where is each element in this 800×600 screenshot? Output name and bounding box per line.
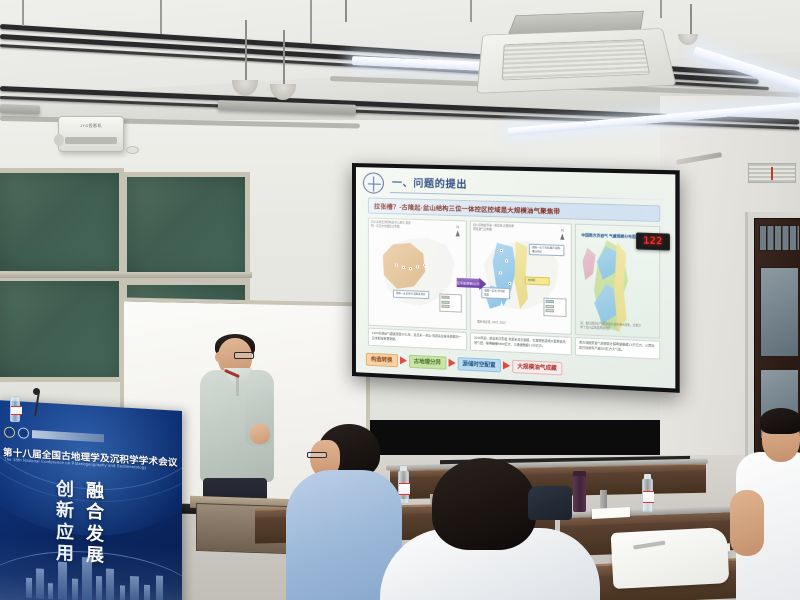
wall-projector: JYD投影机 [58, 116, 124, 152]
flow-arrow-icon [503, 361, 510, 370]
map-note: 四川盆地及邻区构造单元划分 及德阳—安岳台内裂陷分布图 [371, 221, 413, 230]
shale-zone-pink [582, 248, 597, 284]
conduit-hanger [660, 0, 662, 18]
map-marker [508, 282, 511, 285]
bottle-label [643, 491, 654, 503]
map-callout: 绵阳—长宁克拉通内 裂陷槽分布区 [529, 244, 565, 257]
water-bottle-lectern [10, 396, 20, 422]
map-marker [409, 267, 412, 270]
flow-step-2: 古地理分异 [409, 354, 446, 369]
led-display-value: 122 [643, 236, 663, 248]
map-caption: 1964年威远气藏发现至2011年，震旦系—寒山·寒武系台缘带勘探均一直未取得重… [368, 328, 467, 351]
map-legend [439, 293, 461, 312]
map-marker [500, 249, 503, 252]
map-marker [395, 264, 398, 267]
map-marker [416, 265, 419, 268]
map-marker [423, 264, 426, 267]
slide-section-title: 一、问题的提出 [392, 174, 467, 191]
flow-arrow-icon [400, 356, 407, 364]
map-marker [402, 266, 405, 269]
smoke-detector [126, 146, 139, 154]
flow-arrow-icon [448, 359, 455, 367]
bottle-label [11, 406, 22, 415]
pendant-rod [283, 30, 285, 86]
led-display: 122 [636, 232, 670, 250]
map-caption: 2011年后，震旦系灯影组·寒武系龙王庙组，交发现安岳特大型整装天然气田，探明储… [470, 332, 572, 355]
audience-white-hair [432, 458, 536, 550]
presenter-glasses [234, 352, 254, 359]
vent-indicator [771, 167, 773, 180]
map-callout: 德阳—安岳台内 裂陷发育区 [393, 290, 429, 299]
map-caption: 南方海相页岩气勘探累计探明储量超2.9万亿方，川南地区已建成年产超300亿方大气… [575, 337, 660, 360]
map-marker [499, 271, 502, 274]
ceiling-cassette-air-conditioner [476, 28, 676, 94]
light-fixture-dark [0, 104, 40, 114]
flow-step-3: 源储时空配置 [457, 357, 501, 372]
conference-banner: 第十八届全国古地理学及沉积学学术会议 The 18th National Con… [0, 400, 182, 600]
projection-screen[interactable]: 一、问题的提出 拉张槽？-古隆起·盆山结构三位一体控区控域是大规模油气聚焦带 四… [352, 163, 680, 393]
projector-brand-label: JYD投影机 [59, 123, 123, 129]
map-note: 四川盆地震旦系—寒武系 岩相古地理及油气分布图 [473, 224, 516, 233]
map-legend-caption: 注：据全国页岩气资源潜力调查评价成果，主要分布于四川盆地及周缘地区 [580, 322, 642, 333]
water-bottle-right [642, 478, 653, 512]
map-source: 据杜金虎等, 2015, 2023 [477, 320, 535, 326]
wall-air-vent [748, 163, 796, 183]
map-card-left: 四川盆地及邻区构造单元划分 及德阳—安岳台内裂陷分布图 N 德阳—安岳台内 裂陷… [368, 217, 467, 330]
audience-right-hair [760, 408, 800, 434]
slogan-char: 新 [56, 501, 74, 522]
ac-grille [502, 39, 651, 80]
compass-icon: N [559, 228, 565, 240]
bottle-label [399, 483, 410, 495]
audience-blue-glasses [307, 452, 327, 458]
projector-lens [54, 134, 64, 146]
pendant-rod [345, 0, 347, 22]
maps-row: 四川盆地及邻区构造单元划分 及德阳—安岳台内裂陷分布图 N 德阳—安岳台内 裂陷… [368, 217, 660, 338]
chalk-rail [0, 272, 252, 278]
ac-panel [476, 28, 676, 94]
door-glass-pane [760, 267, 799, 357]
presentation-slide: 一、问题的提出 拉张槽？-古隆起·盆山结构三位一体控区控域是大规模油气聚焦带 四… [356, 167, 675, 388]
door-transom-grid [759, 225, 800, 251]
tote-bag-print [633, 541, 665, 550]
projector-vent [65, 137, 117, 144]
thermos-flask [573, 476, 586, 512]
map-legend [543, 298, 566, 317]
slogan-char: 合 [86, 503, 104, 524]
transition-arrow-label: 近年勘探新认识 [457, 278, 480, 288]
dark-bag [528, 486, 572, 520]
compass-icon: N [455, 225, 461, 236]
presenter-ear [215, 352, 222, 362]
presenter-hand [250, 424, 270, 444]
chalkboard-panel [122, 172, 250, 280]
pendant-rod [690, 4, 692, 38]
slogan-char: 创 [56, 480, 74, 501]
map-marker [505, 259, 508, 262]
arrow-head-icon [480, 277, 487, 289]
conference-room-photo: JYD投影机 一、问题的提出 拉张槽？-古隆起·盆山结构三位一体控区控域是大规模… [0, 0, 800, 600]
conference-seal-left-icon [4, 426, 15, 438]
conduit-hanger [22, 0, 24, 26]
audience-right-arm [730, 490, 764, 556]
transition-arrow: 近年勘探新认识 [457, 277, 484, 289]
slogan-char: 融 [86, 481, 104, 502]
conference-seal-right-icon [18, 427, 29, 439]
institute-logo-icon [363, 172, 384, 194]
paper-handout [592, 507, 630, 519]
bottle-cap [400, 466, 407, 471]
flow-step-1: 构造转换 [366, 352, 398, 367]
map-callout-highlight: 台缘带 [525, 276, 550, 285]
conduit-hanger [160, 0, 162, 34]
bottle-cap [644, 474, 651, 479]
white-tote-bag [611, 527, 730, 589]
chalkboard-panel [0, 168, 124, 276]
pendant-rod [245, 20, 247, 82]
flow-step-4: 大规模油气成藏 [512, 359, 562, 375]
map-right-title: 中国南方页岩气 气藏规模分布图 [581, 233, 636, 240]
conduit-hanger [310, 0, 312, 44]
chalkboard-panel [0, 276, 124, 382]
conduit-hanger [470, 0, 472, 22]
